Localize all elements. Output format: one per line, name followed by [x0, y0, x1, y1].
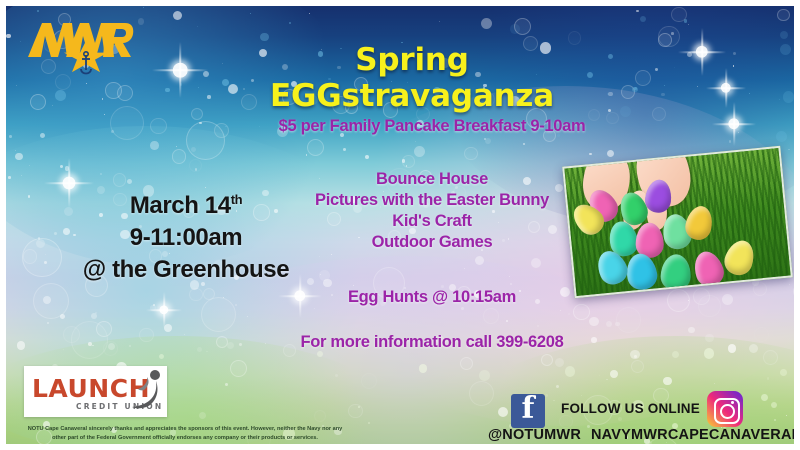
bokeh-dot	[88, 342, 92, 346]
bokeh-dot	[419, 364, 428, 373]
bokeh-dot	[36, 239, 45, 248]
bokeh-dot	[461, 307, 464, 310]
bokeh-dot	[21, 175, 23, 177]
bokeh-dot	[198, 87, 199, 88]
sparkle-icon	[146, 292, 182, 328]
event-time: 9-11:00am	[51, 222, 321, 254]
bokeh-dot	[47, 322, 49, 324]
bokeh-dot	[484, 138, 486, 140]
bokeh-dot	[323, 279, 332, 288]
bokeh-dot	[672, 351, 679, 358]
bokeh-dot	[565, 366, 576, 377]
bokeh-dot	[117, 85, 134, 102]
bokeh-dot	[150, 141, 158, 149]
bokeh-dot	[45, 254, 46, 255]
bokeh-dot	[789, 284, 790, 285]
bokeh-dot	[793, 284, 794, 299]
bokeh-dot	[607, 150, 614, 157]
bokeh-dot	[634, 355, 637, 358]
sponsor-disclaimer: NOTU Cape Canaveral sincerely thanks and…	[20, 425, 350, 443]
event-location: @ the Greenhouse	[51, 254, 321, 286]
bokeh-dot	[688, 327, 695, 334]
bokeh-dot	[510, 24, 520, 34]
bokeh-dot	[728, 344, 737, 353]
bokeh-dot	[406, 165, 408, 167]
bokeh-dot	[110, 106, 144, 140]
bokeh-dot	[704, 348, 715, 359]
bokeh-dot	[353, 285, 354, 286]
bokeh-dot	[464, 268, 465, 269]
bokeh-dot	[33, 283, 69, 319]
website-url[interactable]: NAVYMWRCAPECANAVERAL.COM	[591, 427, 794, 443]
bokeh-dot	[652, 107, 666, 121]
bokeh-dot	[164, 324, 172, 332]
bokeh-dot	[223, 297, 224, 298]
social-bar: f FOLLOW US ONLINE @NOTUMWR NAVYMWRCAPEC…	[461, 391, 791, 444]
bokeh-dot	[753, 282, 768, 297]
bokeh-dot	[20, 41, 21, 42]
bokeh-dot	[180, 83, 183, 86]
bokeh-dot	[260, 33, 269, 42]
bokeh-dot	[779, 99, 780, 100]
sparkle-icon	[712, 102, 756, 146]
flyer-canvas: Spring EGGstravaganza $5 per Family Panc…	[6, 6, 794, 444]
bokeh-dot	[63, 326, 80, 343]
bokeh-dot	[331, 254, 332, 255]
bokeh-dot	[621, 85, 635, 99]
bokeh-dot	[402, 159, 405, 162]
bokeh-dot	[509, 276, 510, 277]
bokeh-dot	[671, 32, 674, 35]
bokeh-dot	[203, 288, 216, 301]
bokeh-dot	[358, 406, 360, 408]
egg-hunt-line: Egg Hunts @ 10:15am	[232, 288, 632, 307]
bokeh-dot	[763, 350, 778, 365]
bokeh-dot	[788, 149, 789, 150]
bokeh-dot	[23, 249, 38, 264]
bokeh-dot	[138, 18, 144, 24]
bokeh-dot	[129, 345, 131, 347]
bokeh-dot	[309, 13, 310, 14]
event-date: March 14th	[51, 184, 321, 222]
bokeh-dot	[738, 132, 739, 133]
bokeh-dot	[697, 86, 699, 88]
bokeh-dot	[184, 334, 185, 335]
bokeh-dot	[568, 313, 570, 315]
bokeh-dot	[91, 313, 97, 319]
bokeh-dot	[714, 383, 715, 384]
bokeh-dot	[674, 67, 675, 68]
bokeh-dot	[365, 155, 369, 159]
bokeh-dot	[150, 305, 155, 310]
bokeh-dot	[688, 300, 689, 301]
bokeh-dot	[483, 308, 499, 324]
bokeh-dot	[165, 88, 170, 93]
bokeh-dot	[214, 123, 229, 138]
bokeh-dot	[733, 52, 737, 56]
bokeh-dot	[111, 130, 114, 133]
event-details: March 14th 9-11:00am @ the Greenhouse	[51, 184, 321, 286]
bokeh-dot	[634, 87, 637, 90]
bokeh-dot	[780, 44, 791, 55]
bokeh-dot	[667, 289, 690, 312]
bokeh-dot	[38, 237, 40, 239]
bokeh-dot	[172, 149, 187, 164]
bokeh-dot	[65, 166, 70, 171]
bokeh-dot	[195, 168, 198, 171]
bokeh-dot	[199, 412, 206, 419]
bokeh-dot	[230, 360, 247, 377]
bokeh-dot	[555, 358, 564, 367]
bokeh-dot	[191, 147, 196, 152]
bokeh-dot	[541, 354, 554, 367]
bokeh-dot	[150, 118, 167, 135]
bokeh-dot	[729, 140, 732, 143]
bokeh-dot	[698, 295, 721, 318]
bokeh-dot	[414, 146, 425, 157]
bokeh-dot	[616, 307, 642, 333]
bokeh-dot	[635, 70, 651, 86]
bokeh-dot	[173, 11, 182, 20]
bokeh-dot	[415, 141, 416, 142]
bokeh-dot	[688, 24, 689, 25]
bokeh-dot	[104, 114, 105, 115]
sparkle-icon	[706, 68, 746, 108]
bokeh-dot	[247, 316, 248, 317]
bokeh-dot	[37, 10, 39, 12]
bokeh-dot	[754, 327, 769, 342]
bokeh-dot	[368, 422, 370, 424]
bokeh-dot	[102, 98, 104, 100]
bokeh-dot	[606, 379, 607, 380]
bokeh-dot	[485, 138, 491, 144]
mwr-wordmark-icon	[26, 15, 134, 85]
sparkle-icon	[152, 42, 208, 98]
bokeh-dot	[777, 9, 790, 22]
bokeh-dot	[460, 357, 473, 370]
bokeh-dot	[687, 52, 692, 57]
bokeh-dot	[203, 71, 209, 77]
bokeh-dot	[29, 165, 30, 166]
page-title: Spring EGGstravaganza	[212, 42, 612, 114]
bokeh-dot	[63, 349, 64, 350]
bokeh-dot	[506, 320, 508, 322]
bokeh-dot	[307, 139, 324, 156]
bokeh-dot	[197, 26, 198, 27]
bokeh-dot	[225, 126, 227, 128]
bokeh-dot	[44, 261, 47, 264]
mwr-logo	[26, 15, 134, 85]
bokeh-dot	[671, 7, 687, 23]
bokeh-dot	[560, 310, 561, 311]
bokeh-dot	[15, 153, 23, 161]
bokeh-dot	[60, 165, 63, 168]
bokeh-dot	[615, 322, 620, 327]
bokeh-dot	[481, 18, 492, 29]
bokeh-dot	[556, 385, 559, 388]
bokeh-dot	[599, 375, 600, 376]
instagram-icon[interactable]	[707, 391, 743, 427]
bokeh-dot	[17, 341, 26, 350]
bokeh-dot	[514, 18, 531, 35]
bokeh-dot	[176, 146, 177, 147]
bokeh-dot	[9, 135, 12, 138]
bokeh-dot	[663, 377, 672, 386]
bokeh-dot	[776, 131, 787, 142]
bokeh-dot	[631, 360, 644, 373]
bokeh-dot	[159, 354, 164, 359]
bokeh-dot	[722, 294, 733, 305]
bokeh-dot	[464, 147, 478, 161]
breakfast-line: $5 per Family Pancake Breakfast 9-10am	[232, 117, 632, 136]
bokeh-dot	[640, 16, 646, 22]
bokeh-dot	[153, 304, 155, 306]
bokeh-dot	[28, 195, 31, 198]
bokeh-dot	[95, 312, 97, 314]
bokeh-dot	[314, 410, 326, 422]
bokeh-dot	[589, 153, 592, 156]
bokeh-dot	[531, 258, 541, 268]
bokeh-dot	[636, 10, 639, 13]
bokeh-dot	[30, 94, 46, 110]
bokeh-dot	[100, 173, 102, 175]
bokeh-dot	[664, 85, 665, 86]
bokeh-dot	[207, 95, 211, 99]
bokeh-dot	[632, 87, 637, 92]
bokeh-dot	[16, 85, 17, 86]
bokeh-dot	[6, 34, 11, 39]
instagram-lens-icon	[720, 404, 735, 419]
bokeh-dot	[348, 404, 363, 419]
bokeh-dot	[103, 341, 119, 357]
bokeh-dot	[139, 328, 154, 343]
bokeh-dot	[197, 347, 202, 352]
bokeh-dot	[52, 105, 53, 106]
bokeh-dot	[705, 334, 714, 343]
bokeh-dot	[783, 91, 794, 102]
bokeh-dot	[55, 90, 66, 101]
bokeh-dot	[610, 370, 618, 378]
bokeh-dot	[15, 150, 16, 151]
bokeh-dot	[289, 22, 291, 24]
bokeh-dot	[479, 370, 490, 381]
bokeh-dot	[402, 155, 415, 168]
bokeh-dot	[314, 308, 315, 309]
event-flyer: Spring EGGstravaganza $5 per Family Panc…	[0, 0, 800, 450]
sponsor-logo: LAUNCH CREDIT UNION	[24, 366, 167, 417]
bokeh-dot	[684, 19, 688, 23]
bokeh-dot	[191, 108, 203, 120]
bokeh-dot	[780, 31, 789, 40]
bokeh-dot	[92, 345, 93, 346]
bokeh-dot	[475, 256, 484, 265]
bokeh-dot	[189, 288, 203, 302]
follow-label: FOLLOW US ONLINE	[561, 401, 700, 416]
bokeh-dot	[658, 26, 679, 47]
bokeh-dot	[510, 283, 512, 285]
bokeh-dot	[589, 317, 599, 327]
bokeh-dot	[361, 373, 377, 389]
bokeh-dot	[108, 343, 115, 350]
bokeh-dot	[225, 383, 228, 386]
bokeh-dot	[335, 374, 338, 377]
social-handle[interactable]: @NOTUMWR	[461, 427, 581, 443]
bokeh-dot	[749, 344, 758, 353]
contact-line: For more information call 399-6208	[232, 333, 632, 352]
bokeh-dot	[43, 296, 51, 304]
launch-swoosh-icon	[128, 369, 164, 409]
sparkle-icon	[678, 28, 726, 76]
bokeh-dot	[693, 288, 710, 305]
bokeh-dot	[60, 314, 65, 319]
bokeh-dot	[8, 176, 11, 179]
bokeh-dot	[216, 336, 228, 348]
bokeh-dot	[655, 68, 658, 71]
bokeh-dot	[40, 133, 45, 138]
bokeh-dot	[343, 148, 346, 151]
bokeh-dot	[606, 321, 613, 328]
bokeh-dot	[439, 21, 441, 23]
bokeh-dot	[206, 351, 207, 352]
bokeh-dot	[749, 93, 750, 94]
bokeh-dot	[767, 377, 769, 379]
bokeh-dot	[620, 106, 632, 118]
bokeh-dot	[186, 121, 225, 160]
bokeh-dot	[96, 321, 112, 337]
bokeh-dot	[189, 159, 202, 172]
facebook-icon[interactable]: f	[511, 394, 545, 428]
bokeh-dot	[661, 93, 665, 97]
bokeh-dot	[523, 143, 525, 145]
bokeh-dot	[71, 321, 108, 358]
bokeh-dot	[658, 33, 672, 47]
bokeh-dot	[250, 13, 251, 14]
ordinal-suffix: th	[231, 192, 242, 207]
bokeh-dot	[537, 325, 539, 327]
bokeh-dot	[733, 65, 735, 67]
bokeh-dot	[780, 369, 787, 376]
bokeh-dot	[306, 154, 308, 156]
easter-egg-photo	[562, 146, 793, 298]
bokeh-dot	[143, 7, 144, 8]
bokeh-dot	[199, 122, 202, 125]
